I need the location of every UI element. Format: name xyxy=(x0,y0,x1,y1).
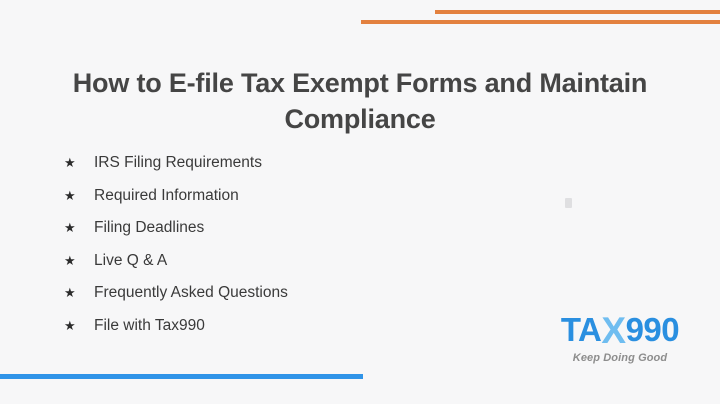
list-item: ★ File with Tax990 xyxy=(64,318,288,351)
logo-text-990: 990 xyxy=(626,311,680,348)
list-item-label: Live Q & A xyxy=(94,253,167,269)
star-icon: ★ xyxy=(64,156,94,169)
slide-title: How to E-file Tax Exempt Forms and Maint… xyxy=(60,66,660,137)
presentation-slide: How to E-file Tax Exempt Forms and Maint… xyxy=(0,0,720,404)
list-item: ★ IRS Filing Requirements xyxy=(64,155,288,188)
logo-tagline: Keep Doing Good xyxy=(540,352,700,364)
star-icon: ★ xyxy=(64,221,94,234)
decorative-rule-orange-bottom xyxy=(361,20,720,24)
list-item: ★ Frequently Asked Questions xyxy=(64,285,288,318)
list-item-label: File with Tax990 xyxy=(94,318,205,334)
decorative-rule-blue xyxy=(0,374,363,379)
star-icon: ★ xyxy=(64,319,94,332)
star-icon: ★ xyxy=(64,254,94,267)
list-item-label: Filing Deadlines xyxy=(94,220,204,236)
list-item: ★ Filing Deadlines xyxy=(64,220,288,253)
list-item-label: Required Information xyxy=(94,188,239,204)
tax990-logo: TAX990 Keep Doing Good xyxy=(540,310,700,364)
list-item-label: IRS Filing Requirements xyxy=(94,155,262,171)
decorative-rule-orange-top xyxy=(435,10,720,14)
agenda-list: ★ IRS Filing Requirements ★ Required Inf… xyxy=(64,155,288,350)
list-item: ★ Live Q & A xyxy=(64,253,288,286)
list-item-label: Frequently Asked Questions xyxy=(94,285,288,301)
star-icon: ★ xyxy=(64,189,94,202)
list-item: ★ Required Information xyxy=(64,188,288,221)
mouse-cursor-artifact xyxy=(565,198,572,208)
star-icon: ★ xyxy=(64,286,94,299)
logo-text-x: X xyxy=(601,310,625,351)
logo-text-ta: TA xyxy=(561,311,602,348)
logo-wordmark: TAX990 xyxy=(540,310,700,349)
